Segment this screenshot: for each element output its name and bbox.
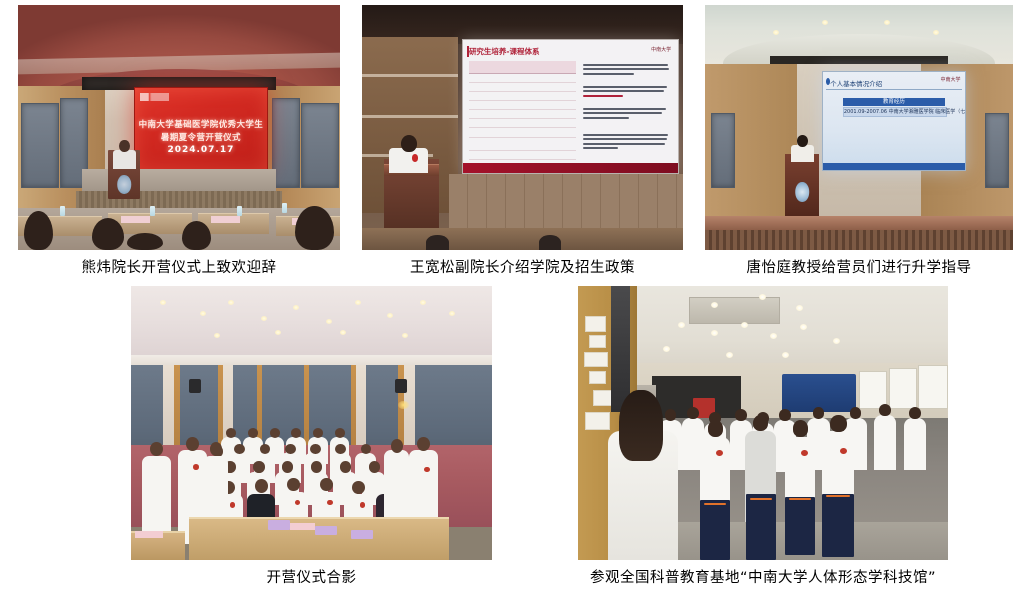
ceiling-light <box>200 311 206 316</box>
podium <box>785 154 819 215</box>
front-desk <box>189 517 449 560</box>
student-head <box>879 404 891 416</box>
standing-attendee <box>384 450 409 521</box>
bag-handle <box>789 498 811 500</box>
student-head <box>830 415 846 432</box>
table-header-row <box>469 61 577 73</box>
student-head <box>753 415 769 431</box>
university-seal-icon <box>795 182 809 202</box>
ceiling <box>131 286 492 360</box>
bullet-line <box>583 90 664 92</box>
attendee-head <box>313 428 323 437</box>
led-screen: 中南大学基础医学院优秀大学生 暑期夏令营开营仪式 2024.07.17 <box>134 87 268 172</box>
wall-label <box>589 335 606 348</box>
ceiling-light <box>884 20 890 25</box>
tote-bag <box>822 494 853 557</box>
ceiling-light <box>773 30 779 35</box>
tote-bag <box>746 494 776 560</box>
university-seal-icon <box>117 175 131 194</box>
bullet-line <box>583 134 669 136</box>
standing-head <box>417 437 430 451</box>
exhibit-board <box>889 368 917 408</box>
attendee-head <box>310 444 321 454</box>
bullet-line <box>583 138 667 140</box>
wall-stripe <box>362 74 458 77</box>
photo-block-group-photo: 开营仪式合影 <box>131 286 492 560</box>
wall-label <box>589 371 606 384</box>
water-bottle <box>60 206 65 216</box>
photo-opening-welcome: 中南大学基础医学院优秀大学生 暑期夏令营开营仪式 2024.07.17 <box>18 5 340 250</box>
photo-block-opening-welcome: 中南大学基础医学院优秀大学生 暑期夏令营开营仪式 2024.07.17 <box>18 5 340 250</box>
table-row <box>469 101 577 110</box>
photo-block-admission-policy: 研究生培养-课程体系 中南大学 <box>362 5 683 250</box>
wall-edge-panel <box>611 286 630 412</box>
front-row-head <box>255 479 268 493</box>
desk-card <box>290 523 315 530</box>
attendee-head <box>340 461 352 473</box>
audience-member <box>92 218 124 250</box>
acoustic-panel <box>711 113 735 189</box>
university-logo-text: 中南大学 <box>651 46 671 53</box>
speaker-body <box>791 145 814 162</box>
projection-screen: 个人基本情况介绍 中南大学 教育经历 2001.09-2007.06 中南大学湘… <box>822 71 966 171</box>
slide-table-row: 2001.09-2007.06 中南大学湘雅医学院 临床医学（七年制） <box>843 107 947 117</box>
projection-screen: 研究生培养-课程体系 中南大学 <box>462 39 679 173</box>
screen-line-1: 中南大学基础医学院优秀大学生 <box>135 118 267 130</box>
stage-front-grill <box>705 230 1013 250</box>
audience-silhouette <box>539 235 561 250</box>
student-head <box>793 420 809 436</box>
speaker-badge-icon <box>412 154 418 161</box>
bullet-line <box>583 143 665 145</box>
bullet-line <box>583 108 666 110</box>
student-head <box>850 407 862 419</box>
attendee-head <box>270 428 280 437</box>
caption-group-photo: 开营仪式合影 <box>131 568 492 588</box>
bullet-line <box>583 64 668 66</box>
name-badge-icon <box>230 502 235 507</box>
name-badge-icon <box>327 500 332 505</box>
desk-card <box>135 531 164 538</box>
caption-opening-welcome: 熊炜院长开营仪式上致欢迎辞 <box>18 258 340 278</box>
slide-divider <box>826 89 962 90</box>
bag-handle <box>750 498 772 500</box>
caption-graduate-guidance: 唐怡庭教授给营员们进行升学指导 <box>705 258 1013 278</box>
attendee-head <box>234 444 245 454</box>
photo-report-page: 中南大学基础医学院优秀大学生 暑期夏令营开营仪式 2024.07.17 <box>0 0 1031 604</box>
speaker-body <box>389 148 428 173</box>
ceiling-light <box>711 330 718 336</box>
ceiling-light <box>933 30 939 35</box>
university-logo-icon <box>140 93 188 101</box>
screen-date: 2024.07.17 <box>135 145 267 155</box>
course-table <box>469 61 577 154</box>
slide-footer <box>823 163 965 170</box>
standing-head <box>186 437 199 451</box>
audience-member <box>127 233 162 250</box>
acoustic-panel <box>272 98 300 188</box>
bullet-line-highlight <box>583 95 624 97</box>
ceiling-light <box>326 319 332 324</box>
audience-silhouette <box>426 235 448 250</box>
wall-speaker <box>395 379 408 393</box>
bullet-gap <box>583 99 671 105</box>
water-bottle <box>237 206 242 216</box>
slide-section-header: 教育经历 <box>843 98 945 107</box>
water-bottle <box>150 206 155 216</box>
screen-line-2: 暑期夏令营开营仪式 <box>135 131 267 143</box>
speaker-body <box>113 150 136 170</box>
desk-card <box>121 216 150 223</box>
floor <box>362 228 683 250</box>
front-row-head <box>320 478 333 492</box>
speaker-head <box>401 135 417 152</box>
wall-speaker <box>189 379 202 393</box>
ceiling-light <box>678 322 685 328</box>
ceiling-light <box>726 352 733 358</box>
name-badge-icon <box>360 502 365 507</box>
slide-title: 研究生培养-课程体系 <box>469 46 540 57</box>
ceiling-light <box>449 311 455 316</box>
attendee-head <box>335 444 346 454</box>
water-bottle <box>282 203 287 213</box>
student-head <box>909 407 921 419</box>
wall-stripe <box>362 115 458 118</box>
wall-label <box>585 316 606 332</box>
table-row <box>469 142 577 151</box>
ceiling-light <box>420 300 426 305</box>
student-head <box>813 407 825 419</box>
exhibit-board <box>918 365 948 408</box>
ceiling-light <box>355 300 361 305</box>
table-row <box>469 128 577 137</box>
ceiling-light <box>770 333 777 339</box>
student-head <box>708 420 724 436</box>
student <box>874 415 896 470</box>
table-row <box>469 83 577 92</box>
bag-handle <box>826 495 850 497</box>
student-head <box>779 409 791 421</box>
photo-block-graduate-guidance: 个人基本情况介绍 中南大学 教育经历 2001.09-2007.06 中南大学湘… <box>705 5 1013 250</box>
ceiling-light <box>782 352 789 358</box>
attendee-head <box>285 444 296 454</box>
bullet-line <box>583 117 629 119</box>
slide-table-row-text: 2001.09-2007.06 中南大学湘雅医学院 临床医学（七年制） <box>844 108 946 117</box>
tote-bag <box>785 497 815 555</box>
ceiling-light <box>822 20 828 25</box>
student-head <box>735 409 747 421</box>
bullet-line <box>583 73 634 75</box>
attendee-head <box>253 461 265 473</box>
ceiling-vent <box>689 297 780 324</box>
attendee-head <box>260 444 271 454</box>
caption-admission-policy: 王宽松副院长介绍学院及招生政策 <box>362 258 683 278</box>
stage-front-panels <box>449 174 683 228</box>
desk-card <box>211 216 240 223</box>
ceiling-light <box>160 300 166 305</box>
bullet-line <box>583 68 669 70</box>
attendee-head <box>311 461 323 473</box>
exhibit-board <box>859 371 887 409</box>
slide-section-header-text: 教育经历 <box>843 98 945 107</box>
attendee-head <box>248 428 258 437</box>
wall-label <box>593 390 614 406</box>
standing-head <box>150 442 163 456</box>
name-plate <box>268 520 290 530</box>
standing-head <box>391 439 403 453</box>
table-row <box>469 92 577 101</box>
name-plate <box>351 530 373 540</box>
acoustic-panel <box>985 113 1009 189</box>
university-logo-text: 中南大学 <box>940 76 960 83</box>
name-badge-icon <box>193 464 199 469</box>
table-row <box>469 74 577 83</box>
student <box>904 418 926 470</box>
photo-admission-policy: 研究生培养-课程体系 中南大学 <box>362 5 683 250</box>
name-badge-icon <box>840 448 847 454</box>
table-row <box>469 119 577 128</box>
bullet-line <box>583 147 618 149</box>
student-head <box>687 407 699 419</box>
tote-bag <box>700 500 730 560</box>
name-plate <box>315 526 337 536</box>
slide-bullet-list <box>583 61 671 154</box>
slide-title: 个人基本情况介绍 <box>830 78 882 88</box>
bullet-gap <box>583 77 671 83</box>
bullet-line <box>583 86 667 88</box>
guide-hair <box>619 390 663 461</box>
acoustic-panel <box>21 103 58 188</box>
stage-front-grill <box>76 191 282 208</box>
caption-museum-visit: 参观全国科普教育基地“中南大学人体形态学科技馆” <box>578 568 948 588</box>
photo-block-museum-visit: 参观全国科普教育基地“中南大学人体形态学科技馆” <box>578 286 948 560</box>
attendee-head <box>335 428 345 437</box>
bullet-gap <box>583 121 671 131</box>
bullet-line <box>583 112 662 114</box>
photo-museum-visit <box>578 286 948 560</box>
slide-footer <box>463 163 678 172</box>
table-row <box>469 110 577 119</box>
ceiling-light <box>741 322 748 328</box>
attendee-head <box>369 461 381 473</box>
table-row <box>469 151 577 160</box>
speaker-head <box>119 140 129 152</box>
photo-group-photo <box>131 286 492 560</box>
wall-label <box>585 412 609 430</box>
wall-label <box>584 352 608 368</box>
acoustic-panel <box>301 103 338 188</box>
photo-graduate-guidance: 个人基本情况介绍 中南大学 教育经历 2001.09-2007.06 中南大学湘… <box>705 5 1013 250</box>
ceiling-light <box>214 333 220 338</box>
bag-handle <box>704 503 726 505</box>
ceiling-light <box>402 333 408 338</box>
stage <box>705 216 1013 231</box>
audience-member <box>295 206 334 250</box>
